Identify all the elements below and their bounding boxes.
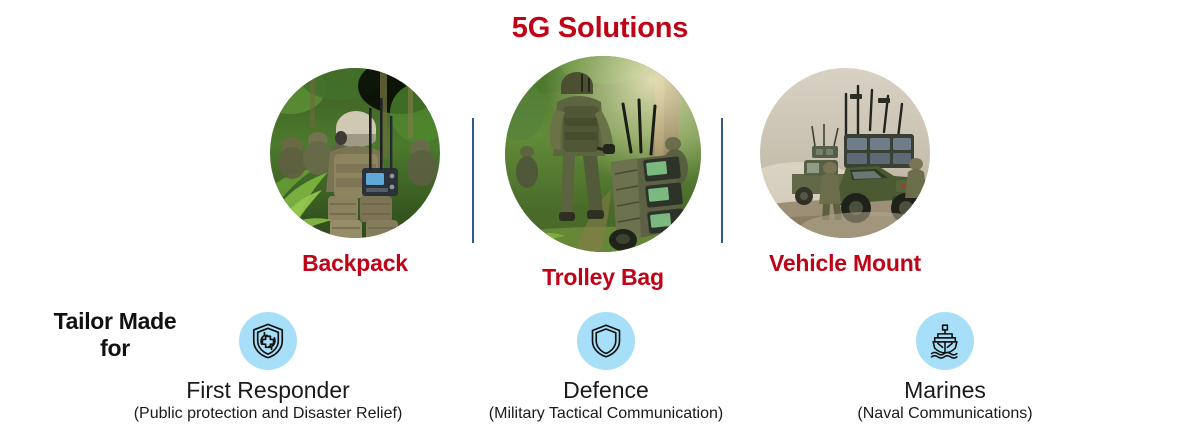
segment-title-defence: Defence bbox=[436, 378, 776, 402]
jungle-trolley-scene bbox=[505, 56, 701, 252]
product-label-vehicle-mount: Vehicle Mount bbox=[752, 250, 938, 277]
divider-1 bbox=[472, 118, 474, 243]
marines-icon-circle bbox=[916, 312, 974, 370]
desert-vehicle-scene bbox=[760, 68, 930, 238]
segment-subtitle-marines: (Naval Communications) bbox=[805, 404, 1085, 424]
segment-first-responder[interactable]: First Responder (Public protection and D… bbox=[88, 312, 448, 424]
segment-title-first-responder: First Responder bbox=[88, 378, 448, 402]
shield-medical-cross-icon bbox=[249, 322, 287, 360]
segment-subtitle-first-responder: (Public protection and Disaster Relief) bbox=[88, 404, 448, 424]
backpack-photo bbox=[270, 68, 440, 238]
product-solutions-row: Backpack bbox=[0, 0, 1200, 300]
divider-2 bbox=[721, 118, 723, 243]
jungle-backpack-scene bbox=[270, 68, 440, 238]
trolley-bag-photo bbox=[505, 56, 701, 252]
product-card-trolley-bag[interactable]: Trolley Bag bbox=[503, 56, 703, 291]
segment-subtitle-defence: (Military Tactical Communication) bbox=[436, 404, 776, 424]
product-card-backpack[interactable]: Backpack bbox=[262, 68, 448, 277]
vehicle-mount-photo bbox=[760, 68, 930, 238]
segment-defence[interactable]: Defence (Military Tactical Communication… bbox=[436, 312, 776, 424]
segment-marines[interactable]: Marines (Naval Communications) bbox=[805, 312, 1085, 424]
naval-ship-icon bbox=[926, 322, 964, 360]
product-label-trolley-bag: Trolley Bag bbox=[503, 264, 703, 291]
product-card-vehicle-mount[interactable]: Vehicle Mount bbox=[752, 68, 938, 277]
first-responder-icon-circle bbox=[239, 312, 297, 370]
segment-title-marines: Marines bbox=[805, 378, 1085, 402]
shield-icon bbox=[588, 323, 624, 359]
defence-icon-circle bbox=[577, 312, 635, 370]
product-label-backpack: Backpack bbox=[262, 250, 448, 277]
